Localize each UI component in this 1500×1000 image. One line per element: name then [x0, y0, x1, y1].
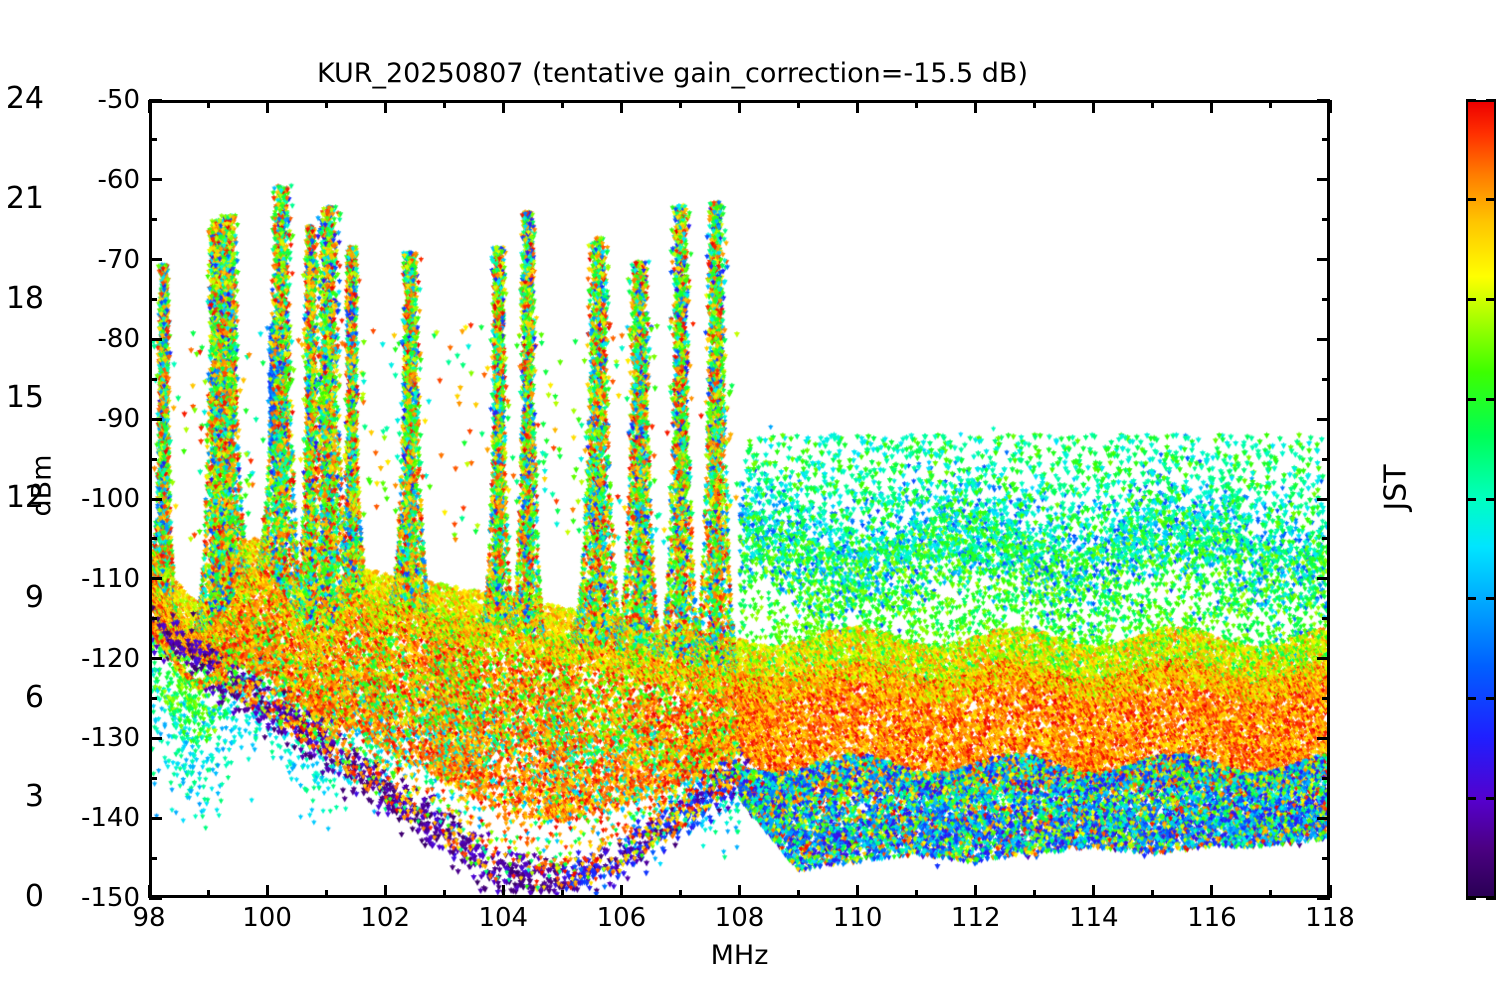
- y-minor-tick: [149, 537, 157, 540]
- x-minor-tick: [1151, 890, 1154, 898]
- x-tick-label: 106: [561, 905, 681, 931]
- colorbar-tick: [1466, 298, 1476, 301]
- y-tick: [1317, 258, 1330, 261]
- x-tick: [1092, 100, 1095, 113]
- colorbar-tick: [1466, 697, 1476, 700]
- x-minor-tick: [443, 100, 446, 108]
- x-tick: [738, 885, 741, 898]
- x-tick-label: 104: [443, 905, 563, 931]
- colorbar-tick-label: 15: [6, 383, 44, 413]
- y-minor-tick: [149, 857, 157, 860]
- colorbar-tick: [1466, 897, 1476, 900]
- y-tick: [149, 418, 162, 421]
- y-tick-label: -130: [81, 725, 140, 751]
- x-minor-tick: [1151, 100, 1154, 108]
- y-tick: [149, 498, 162, 501]
- x-axis-label: MHz: [149, 940, 1330, 971]
- y-tick: [1317, 498, 1330, 501]
- colorbar-tick-label: 0: [25, 882, 44, 912]
- colorbar-tick: [1466, 398, 1476, 401]
- x-tick: [620, 100, 623, 113]
- y-minor-tick: [149, 378, 157, 381]
- y-minor-tick: [149, 617, 157, 620]
- x-tick-label: 102: [325, 905, 445, 931]
- colorbar-tick-label: 3: [25, 782, 44, 812]
- y-tick: [149, 897, 162, 900]
- y-tick: [1317, 338, 1330, 341]
- x-tick: [384, 100, 387, 113]
- x-minor-tick: [679, 100, 682, 108]
- y-tick: [149, 338, 162, 341]
- x-minor-tick: [443, 890, 446, 898]
- x-tick-label: 108: [680, 905, 800, 931]
- x-minor-tick: [325, 100, 328, 108]
- y-tick: [149, 99, 162, 102]
- x-minor-tick: [561, 890, 564, 898]
- y-minor-tick: [1322, 537, 1330, 540]
- y-minor-tick: [149, 777, 157, 780]
- colorbar-tick: [1486, 198, 1496, 201]
- y-minor-tick: [1322, 458, 1330, 461]
- x-minor-tick: [325, 890, 328, 898]
- x-tick: [1210, 100, 1213, 113]
- x-tick-label: 110: [798, 905, 918, 931]
- colorbar-tick-label: 9: [25, 583, 44, 613]
- colorbar-tick: [1486, 298, 1496, 301]
- y-tick: [149, 737, 162, 740]
- colorbar-tick-label: 12: [6, 483, 44, 513]
- x-minor-tick: [1033, 890, 1036, 898]
- x-tick: [856, 100, 859, 113]
- x-minor-tick: [207, 890, 210, 898]
- colorbar-tick-label: 21: [6, 184, 44, 214]
- colorbar-tick-label: 18: [6, 284, 44, 314]
- colorbar-tick: [1486, 797, 1496, 800]
- x-tick-label: 100: [207, 905, 327, 931]
- x-minor-tick: [207, 100, 210, 108]
- colorbar-tick: [1486, 897, 1496, 900]
- figure-root: KUR_20250807 (tentative gain_correction=…: [0, 0, 1500, 1000]
- colorbar-tick-label: 6: [25, 683, 44, 713]
- x-tick: [266, 885, 269, 898]
- y-minor-tick: [149, 458, 157, 461]
- y-minor-tick: [149, 138, 157, 141]
- x-tick: [974, 885, 977, 898]
- colorbar-tick: [1466, 597, 1476, 600]
- x-tick: [974, 100, 977, 113]
- x-tick: [620, 885, 623, 898]
- y-tick-label: -50: [98, 87, 140, 113]
- x-tick: [502, 885, 505, 898]
- y-tick: [1317, 178, 1330, 181]
- y-tick: [1317, 577, 1330, 580]
- y-minor-tick: [1322, 857, 1330, 860]
- x-minor-tick: [797, 890, 800, 898]
- x-tick: [1092, 885, 1095, 898]
- x-tick: [266, 100, 269, 113]
- x-tick-label: 98: [89, 905, 209, 931]
- x-tick: [148, 100, 151, 113]
- y-minor-tick: [149, 298, 157, 301]
- y-tick-label: -140: [81, 805, 140, 831]
- y-minor-tick: [149, 218, 157, 221]
- y-tick: [1317, 737, 1330, 740]
- x-tick-label: 114: [1034, 905, 1154, 931]
- y-tick: [149, 817, 162, 820]
- x-tick-label: 116: [1152, 905, 1272, 931]
- x-minor-tick: [1269, 890, 1272, 898]
- x-tick: [502, 100, 505, 113]
- plot-area: [149, 100, 1330, 898]
- y-minor-tick: [1322, 218, 1330, 221]
- colorbar-label: JST: [1379, 428, 1414, 548]
- x-minor-tick: [1033, 100, 1036, 108]
- y-tick-label: -90: [98, 406, 140, 432]
- colorbar-tick: [1466, 498, 1476, 501]
- y-tick: [149, 258, 162, 261]
- y-minor-tick: [1322, 138, 1330, 141]
- x-minor-tick: [797, 100, 800, 108]
- x-minor-tick: [561, 100, 564, 108]
- y-tick-label: -110: [81, 566, 140, 592]
- x-minor-tick: [1269, 100, 1272, 108]
- y-tick-label: -120: [81, 646, 140, 672]
- y-tick: [1317, 817, 1330, 820]
- y-tick-label: -100: [81, 486, 140, 512]
- colorbar-tick: [1486, 99, 1496, 102]
- y-tick: [149, 577, 162, 580]
- y-minor-tick: [1322, 697, 1330, 700]
- y-tick-label: -80: [98, 326, 140, 352]
- y-minor-tick: [1322, 617, 1330, 620]
- x-minor-tick: [679, 890, 682, 898]
- colorbar-tick: [1466, 198, 1476, 201]
- x-tick-label: 118: [1270, 905, 1390, 931]
- scatter-plot-canvas: [152, 103, 1327, 895]
- x-tick: [1329, 100, 1332, 113]
- y-tick: [1317, 418, 1330, 421]
- colorbar-tick-label: 24: [6, 84, 44, 114]
- colorbar-tick: [1486, 597, 1496, 600]
- y-tick: [1317, 657, 1330, 660]
- colorbar-tick: [1486, 398, 1496, 401]
- colorbar-tick: [1486, 697, 1496, 700]
- y-minor-tick: [1322, 298, 1330, 301]
- y-minor-tick: [1322, 777, 1330, 780]
- y-tick: [149, 657, 162, 660]
- x-tick: [1329, 885, 1332, 898]
- colorbar-tick: [1466, 99, 1476, 102]
- x-tick-label: 112: [916, 905, 1036, 931]
- x-minor-tick: [915, 100, 918, 108]
- x-tick: [1210, 885, 1213, 898]
- y-minor-tick: [1322, 378, 1330, 381]
- y-tick-label: -70: [98, 247, 140, 273]
- y-tick-label: -60: [98, 167, 140, 193]
- x-tick: [856, 885, 859, 898]
- colorbar-tick: [1486, 498, 1496, 501]
- chart-title: KUR_20250807 (tentative gain_correction=…: [0, 58, 1345, 89]
- y-tick: [149, 178, 162, 181]
- x-minor-tick: [915, 890, 918, 898]
- colorbar-tick: [1466, 797, 1476, 800]
- x-tick: [148, 885, 151, 898]
- x-tick: [738, 100, 741, 113]
- x-tick: [384, 885, 387, 898]
- y-minor-tick: [149, 697, 157, 700]
